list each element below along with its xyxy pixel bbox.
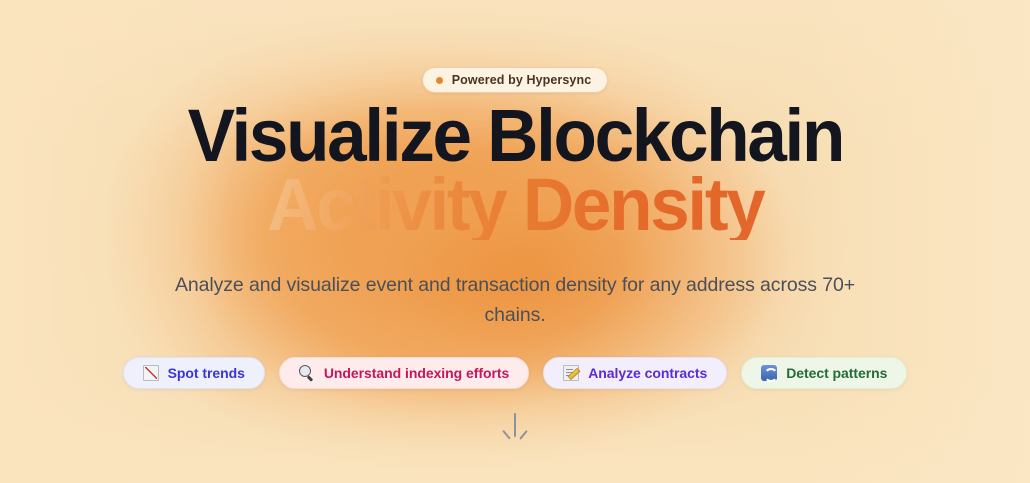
page-title-line-1: Visualize Blockchain — [187, 102, 842, 171]
chart-increasing-icon — [143, 365, 159, 381]
memo-icon — [563, 365, 579, 381]
pill-detect-patterns-label: Detect patterns — [786, 365, 887, 381]
hero-section: Powered by Hypersync Visualize Blockchai… — [0, 0, 1030, 483]
counterclockwise-arrows-icon — [761, 365, 777, 381]
arrow-down-shaft — [514, 413, 516, 437]
pill-analyze-contracts[interactable]: Analyze contracts — [543, 357, 727, 389]
hero-content: Powered by Hypersync Visualize Blockchai… — [0, 0, 1030, 483]
pill-understand-indexing-efforts-label: Understand indexing efforts — [324, 365, 509, 381]
arrow-down-icon[interactable] — [502, 411, 528, 445]
powered-by-badge-label: Powered by Hypersync — [452, 73, 592, 87]
feature-pill-row: Spot trends Understand indexing efforts … — [123, 357, 908, 389]
pill-analyze-contracts-label: Analyze contracts — [588, 365, 707, 381]
pill-understand-indexing-efforts[interactable]: Understand indexing efforts — [279, 357, 529, 389]
arrow-down-head-left — [502, 430, 510, 440]
magnifying-glass-icon — [299, 365, 315, 381]
pill-detect-patterns[interactable]: Detect patterns — [741, 357, 907, 389]
pill-spot-trends[interactable]: Spot trends — [123, 357, 265, 389]
arrow-down-head-right — [519, 430, 527, 440]
page-title-line-2: Activity Density — [187, 171, 842, 240]
page-title: Visualize Blockchain Activity Density — [187, 102, 842, 240]
powered-by-badge: Powered by Hypersync — [422, 67, 609, 93]
page-subtitle: Analyze and visualize event and transact… — [165, 270, 865, 330]
status-dot-icon — [436, 77, 443, 84]
pill-spot-trends-label: Spot trends — [168, 365, 245, 381]
